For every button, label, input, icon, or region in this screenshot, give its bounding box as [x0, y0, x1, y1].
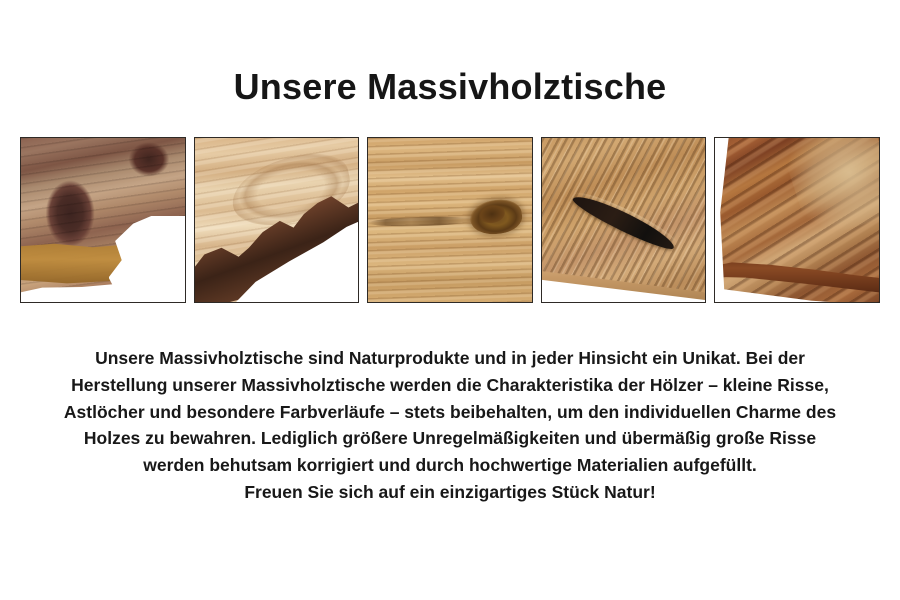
gallery-image-wood-tabletop-corner-sheesham	[714, 137, 880, 303]
body-line-3: Astlöcher und besondere Farbverläufe – s…	[30, 399, 870, 426]
body-line-4: Holzes zu bewahren. Lediglich größere Un…	[30, 425, 870, 452]
photo-content	[21, 138, 185, 302]
photo-content	[195, 138, 359, 302]
photo-content	[715, 138, 879, 302]
gallery-image-wood-slab-corner-dark	[20, 137, 186, 303]
page-title: Unsere Massivholztische	[0, 66, 900, 107]
body-line-2: Herstellung unserer Massivholztische wer…	[30, 372, 870, 399]
body-line-1: Unsere Massivholztische sind Naturproduk…	[30, 345, 870, 372]
image-gallery	[20, 137, 880, 303]
gallery-image-wood-board-crack-sawmarks	[541, 137, 707, 303]
photo-content	[368, 138, 532, 302]
body-line-6: Freuen Sie sich auf ein einzigartiges St…	[30, 479, 870, 506]
body-paragraph: Unsere Massivholztische sind Naturproduk…	[30, 345, 870, 506]
photo-content	[542, 138, 706, 302]
body-line-5: werden behutsam korrigiert und durch hoc…	[30, 452, 870, 479]
gallery-image-wood-slab-live-edge-light	[194, 137, 360, 303]
gallery-image-wood-grain-knot-closeup	[367, 137, 533, 303]
product-info-page: Unsere Massivholztische	[0, 0, 900, 600]
